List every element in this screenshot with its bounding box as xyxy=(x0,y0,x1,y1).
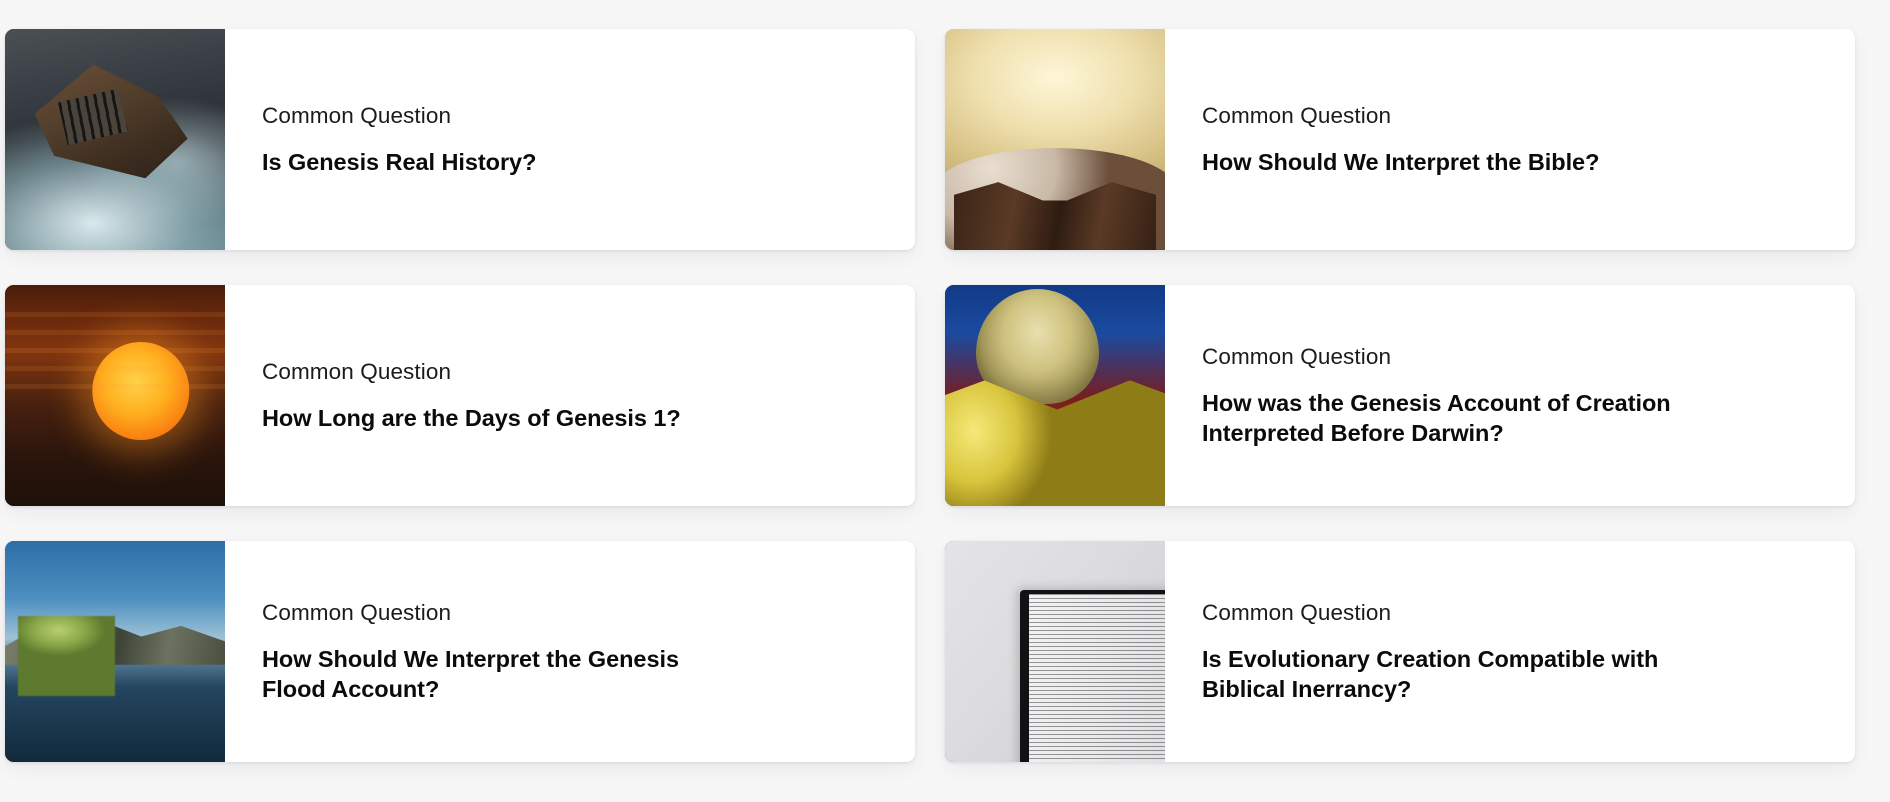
page-root: Common Question Is Genesis Real History?… xyxy=(0,0,1890,802)
stained-glass-saint-icon xyxy=(945,285,1165,506)
open-bible-on-gray-background-icon xyxy=(945,541,1165,762)
card-body: Common Question How Long are the Days of… xyxy=(225,285,915,506)
lone-tree-in-lake-icon xyxy=(5,541,225,762)
card-eyebrow: Common Question xyxy=(262,599,879,627)
card-title: How was the Genesis Account of Creation … xyxy=(1202,388,1672,448)
card-thumbnail xyxy=(5,285,225,506)
card-thumbnail xyxy=(5,29,225,250)
question-card-is-evolutionary-creation-compatible-with-biblical-inerrancy[interactable]: Common Question Is Evolutionary Creation… xyxy=(945,541,1855,762)
card-eyebrow: Common Question xyxy=(1202,599,1819,627)
card-thumbnail xyxy=(945,285,1165,506)
card-title: How Long are the Days of Genesis 1? xyxy=(262,403,879,433)
question-card-how-should-we-interpret-the-genesis-flood-account[interactable]: Common Question How Should We Interpret … xyxy=(5,541,915,762)
card-eyebrow: Common Question xyxy=(262,102,879,130)
card-body: Common Question Is Genesis Real History? xyxy=(225,29,915,250)
card-title: How Should We Interpret the Genesis Floo… xyxy=(262,644,732,704)
question-card-how-should-we-interpret-the-bible[interactable]: Common Question How Should We Interpret … xyxy=(945,29,1855,250)
card-eyebrow: Common Question xyxy=(1202,343,1819,371)
card-body: Common Question Is Evolutionary Creation… xyxy=(1165,541,1855,762)
question-card-is-genesis-real-history[interactable]: Common Question Is Genesis Real History? xyxy=(5,29,915,250)
card-thumbnail xyxy=(5,541,225,762)
card-thumbnail xyxy=(945,541,1165,762)
card-body: Common Question How Should We Interpret … xyxy=(225,541,915,762)
card-body: Common Question How Should We Interpret … xyxy=(1165,29,1855,250)
question-card-how-long-are-the-days-of-genesis-1[interactable]: Common Question How Long are the Days of… xyxy=(5,285,915,506)
card-body: Common Question How was the Genesis Acco… xyxy=(1165,285,1855,506)
sunset-sun-disc-icon xyxy=(5,285,225,506)
question-card-how-was-the-genesis-account-of-creation-interpreted-before-darwin[interactable]: Common Question How was the Genesis Acco… xyxy=(945,285,1855,506)
card-title: How Should We Interpret the Bible? xyxy=(1202,147,1819,177)
card-thumbnail xyxy=(945,29,1165,250)
card-title: Is Evolutionary Creation Compatible with… xyxy=(1202,644,1732,704)
open-glowing-book-in-hands-icon xyxy=(945,29,1165,250)
card-eyebrow: Common Question xyxy=(262,358,879,386)
common-questions-card-grid: Common Question Is Genesis Real History?… xyxy=(5,29,1835,762)
card-eyebrow: Common Question xyxy=(1202,102,1819,130)
card-title: Is Genesis Real History? xyxy=(262,147,879,177)
noahs-ark-in-storm-icon xyxy=(5,29,225,250)
